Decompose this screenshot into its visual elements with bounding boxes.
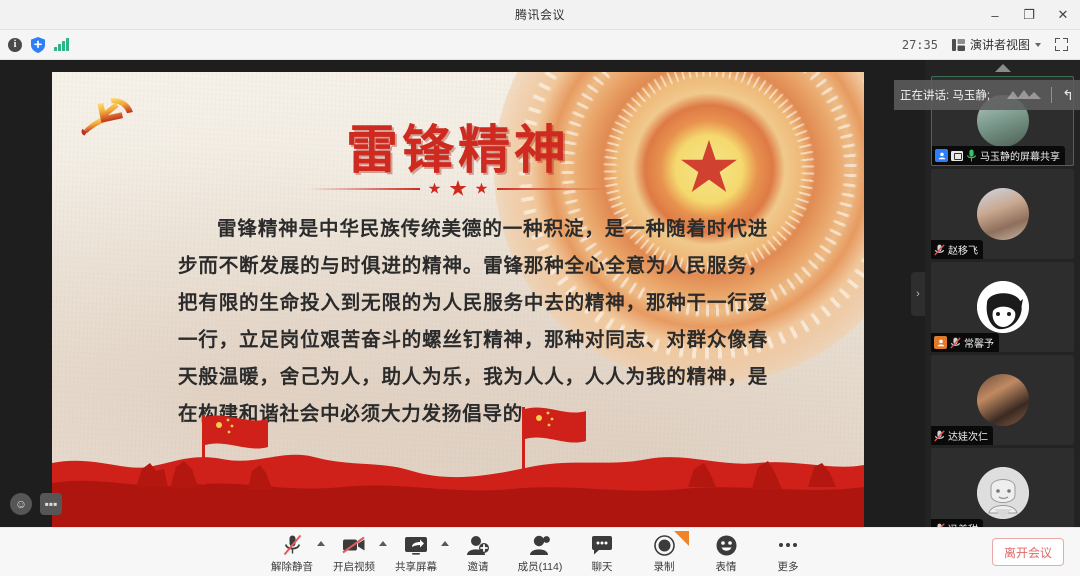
divider-line-right [497, 188, 609, 190]
participant-tile-3[interactable]: 达娃次仁 [931, 355, 1074, 445]
tool-emoji[interactable]: 表情 [695, 531, 757, 574]
scroll-up-arrow-icon [995, 64, 1011, 72]
members-icon [529, 534, 551, 557]
leave-meeting-button[interactable]: 离开会议 [992, 538, 1064, 566]
speaker-view-icon [952, 39, 965, 51]
participant-label: 马玉静的屏幕共享 [932, 146, 1065, 165]
participant-label: 常馨予 [931, 333, 999, 352]
more-dots-icon [779, 534, 797, 557]
meeting-toolbar: i 27:35 演讲者视图 [0, 30, 1080, 60]
chat-bubble-icon [591, 534, 613, 557]
camera-off-icon [342, 534, 366, 557]
microphone-muted-icon [934, 244, 945, 256]
microphone-on-icon [966, 149, 977, 162]
divider-star-small-right [476, 183, 488, 195]
recording-flag-icon [674, 531, 689, 546]
scroll-down-arrow-icon [994, 509, 1012, 527]
slide-title: 雷锋精神 [52, 108, 864, 183]
meeting-status-icons: i [0, 37, 69, 53]
window-title: 腾讯会议 [515, 6, 565, 23]
microphone-muted-icon [934, 430, 945, 442]
tool-more[interactable]: 更多 [757, 531, 819, 574]
maximize-button[interactable]: ❐ [1012, 0, 1046, 30]
speaking-indicator-bar: 正在讲话: 马玉静; ↰ [894, 80, 1080, 110]
participant-tile-1[interactable]: 赵移飞 [931, 169, 1074, 259]
floating-chat-icon[interactable]: ▪▪▪ [40, 493, 62, 515]
participant-panel: 马玉静的屏幕共享 赵移飞 [925, 60, 1080, 527]
avatar [977, 188, 1029, 240]
shared-screen-stage[interactable]: 雷锋精神 雷锋精神是中华民族传统美德的一种积淀，是一种随着时代进步而不断发展的与… [0, 60, 925, 527]
shield-icon[interactable] [31, 37, 45, 53]
tool-members[interactable]: 成员(114) [509, 531, 571, 574]
tool-label: 录制 [654, 559, 675, 574]
divider-star-small-left [429, 183, 441, 195]
stage-floating-buttons: ☺ ▪▪▪ [10, 493, 62, 515]
control-tools: 解除静音 开启视频 [261, 531, 819, 574]
participant-tile-4[interactable]: 冯美甜 [931, 448, 1074, 527]
tool-start-video[interactable]: 开启视频 [323, 531, 385, 574]
participant-name: 赵移飞 [948, 242, 978, 257]
tool-invite[interactable]: 邀请 [447, 531, 509, 574]
view-mode-label: 演讲者视图 [970, 36, 1030, 53]
panel-scroll-down-button[interactable] [994, 518, 1012, 527]
screen-share-icon [951, 151, 963, 161]
divider-line-left [308, 188, 420, 190]
fullscreen-icon[interactable] [1055, 38, 1068, 51]
invite-person-icon [467, 534, 489, 557]
info-icon[interactable]: i [8, 38, 22, 52]
view-mode-selector[interactable]: 演讲者视图 [952, 36, 1041, 53]
toolbar-right-group: 27:35 演讲者视图 [902, 36, 1080, 53]
window-controls: – ❐ ✕ [978, 0, 1080, 30]
tool-label: 表情 [716, 559, 737, 574]
tencent-meeting-window: 腾讯会议 – ❐ ✕ i 27:35 [0, 0, 1080, 576]
emoji-icon [716, 534, 737, 557]
tool-label: 共享屏幕 [395, 559, 437, 574]
sound-waves-icon [1007, 87, 1041, 103]
meeting-timer: 27:35 [902, 38, 938, 52]
participant-name: 马玉静的屏幕共享 [980, 148, 1060, 163]
tool-label: 聊天 [592, 559, 613, 574]
presentation-slide: 雷锋精神 雷锋精神是中华民族传统美德的一种积淀，是一种随着时代进步而不断发展的与… [52, 72, 864, 527]
tool-unmute[interactable]: 解除静音 [261, 531, 323, 574]
participant-label: 冯美甜 [931, 519, 983, 527]
participant-badge-icon [935, 149, 948, 162]
tool-label: 解除静音 [271, 559, 313, 574]
divider [1051, 87, 1052, 103]
participant-name: 达娃次仁 [948, 428, 988, 443]
divider-star-large [450, 180, 467, 197]
participant-tile-2[interactable]: 常馨予 [931, 262, 1074, 352]
meeting-control-bar: 解除静音 开启视频 [0, 527, 1080, 576]
avatar [977, 281, 1029, 333]
record-icon [654, 534, 675, 557]
panel-scroll-up-button[interactable] [925, 60, 1080, 76]
tool-label: 开启视频 [333, 559, 375, 574]
chevron-down-icon[interactable] [1035, 43, 1041, 47]
tool-record[interactable]: 录制 [633, 531, 695, 574]
microphone-muted-icon [283, 534, 302, 557]
avatar [977, 374, 1029, 426]
return-arrow-icon[interactable]: ↰ [1062, 87, 1074, 104]
participant-label: 达娃次仁 [931, 426, 993, 445]
title-divider [52, 180, 864, 197]
close-button[interactable]: ✕ [1046, 0, 1080, 30]
share-screen-icon [404, 534, 428, 557]
signal-strength-icon[interactable] [54, 38, 69, 51]
tool-chat[interactable]: 聊天 [571, 531, 633, 574]
host-badge-icon [934, 336, 947, 349]
title-bar: 腾讯会议 – ❐ ✕ [0, 0, 1080, 30]
tool-label: 邀请 [468, 559, 489, 574]
tool-label: 成员(114) [518, 559, 563, 574]
microphone-muted-icon [950, 337, 961, 349]
participant-label: 赵移飞 [931, 240, 983, 259]
speaking-text: 正在讲话: 马玉静; [900, 87, 990, 103]
red-silhouette-band [52, 397, 864, 527]
tool-label: 更多 [778, 559, 799, 574]
tool-share-screen[interactable]: 共享屏幕 [385, 531, 447, 574]
collapse-panel-chevron-icon[interactable]: › [911, 272, 925, 316]
floating-emoji-icon[interactable]: ☺ [10, 493, 32, 515]
participant-name: 常馨予 [964, 335, 994, 350]
minimize-button[interactable]: – [978, 0, 1012, 30]
